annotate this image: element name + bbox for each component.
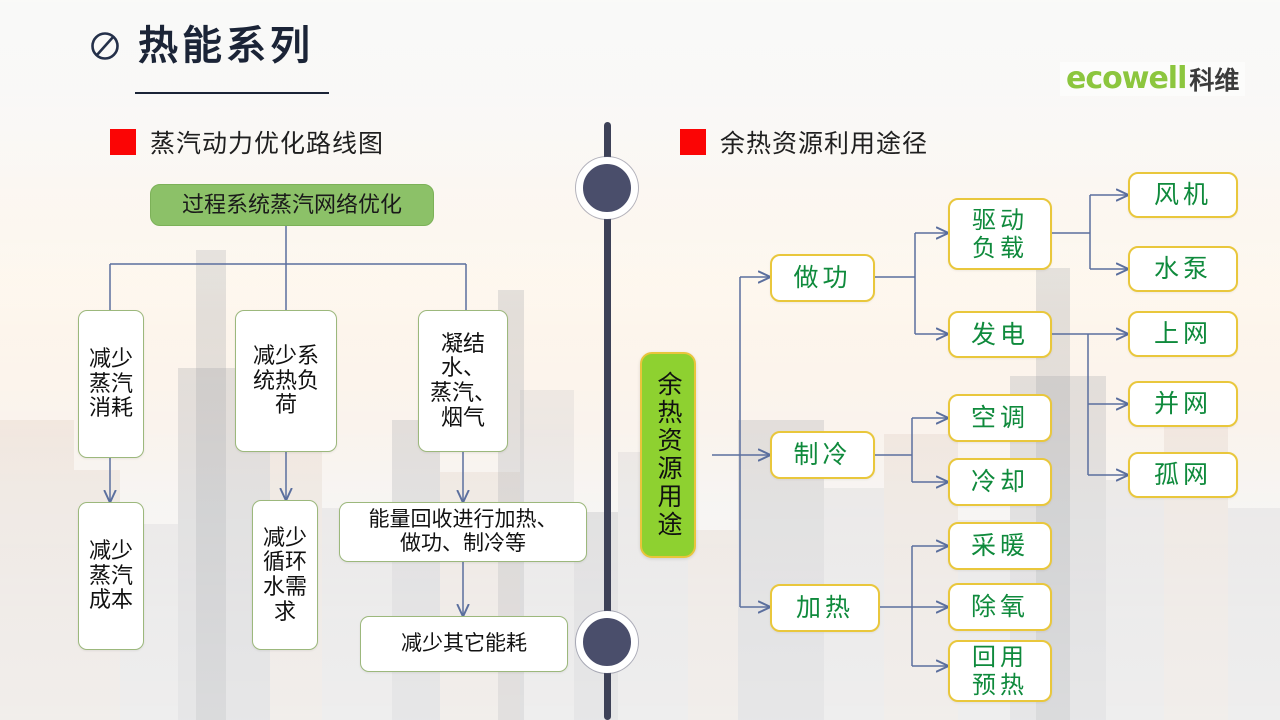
tree-box-island-grid[interactable]: 孤网 (1128, 452, 1238, 498)
flow-box-reduce-cooling-water-demand[interactable]: 减少循环水需求 (252, 500, 318, 650)
flow-box-reduce-system-heat-load[interactable]: 减少系统热负荷 (235, 310, 337, 452)
tree-box-grid-supply[interactable]: 上网 (1128, 311, 1238, 357)
page-title-group: 热能系列 (88, 26, 314, 66)
flow-box-reduce-other-energy[interactable]: 减少其它能耗 (360, 616, 568, 672)
tree-box-space-heating[interactable]: 采暖 (948, 522, 1052, 570)
timeline-node-bottom (576, 611, 638, 673)
red-bullet-icon (110, 129, 136, 155)
center-waste-heat-use-box[interactable]: 余热资源用途 (640, 352, 696, 558)
section-header-right: 余热资源利用途径 (680, 124, 928, 160)
flow-box-reduce-steam-cost[interactable]: 减少蒸汽成本 (78, 502, 144, 650)
tree-box-fan[interactable]: 风机 (1128, 172, 1238, 218)
red-bullet-icon (680, 129, 706, 155)
section-label-left: 蒸汽动力优化路线图 (150, 124, 384, 160)
tree-box-heating[interactable]: 加热 (770, 584, 880, 632)
company-logo: ecowell 科维 (1060, 62, 1245, 96)
tree-box-air-conditioning[interactable]: 空调 (948, 394, 1052, 442)
slide-canvas: 热能系列 蒸汽动力优化路线图 余热资源利用途径 ecowell 科维 (0, 0, 1280, 720)
tree-box-deoxygenation[interactable]: 除氧 (948, 583, 1052, 631)
tree-box-cooling[interactable]: 冷却 (948, 458, 1052, 506)
page-title: 热能系列 (138, 26, 314, 66)
logo-brand-text: ecowell (1066, 64, 1186, 94)
flow-box-condensate-steam-fluegas[interactable]: 凝结水、蒸汽、烟气 (418, 310, 508, 452)
flow-box-energy-recovery[interactable]: 能量回收进行加热、做功、制冷等 (339, 502, 587, 562)
tree-box-refrigeration[interactable]: 制冷 (770, 431, 875, 479)
tree-box-grid-connection[interactable]: 并网 (1128, 381, 1238, 427)
timeline-node-top (576, 157, 638, 219)
tree-box-power-generation[interactable]: 发电 (948, 311, 1052, 358)
tree-box-do-work[interactable]: 做功 (770, 254, 875, 302)
flow-root-box[interactable]: 过程系统蒸汽网络优化 (150, 184, 434, 226)
tree-box-water-pump[interactable]: 水泵 (1128, 246, 1238, 292)
logo-chinese-text: 科维 (1189, 69, 1239, 94)
circle-slash-icon (88, 29, 122, 63)
tree-box-reuse-preheat[interactable]: 回用预热 (948, 640, 1052, 702)
section-header-left: 蒸汽动力优化路线图 (110, 124, 384, 160)
title-underline (135, 92, 329, 94)
section-label-right: 余热资源利用途径 (720, 124, 928, 160)
tree-box-drive-load[interactable]: 驱动负载 (948, 198, 1052, 270)
flow-box-reduce-steam-consumption[interactable]: 减少蒸汽消耗 (78, 310, 144, 458)
